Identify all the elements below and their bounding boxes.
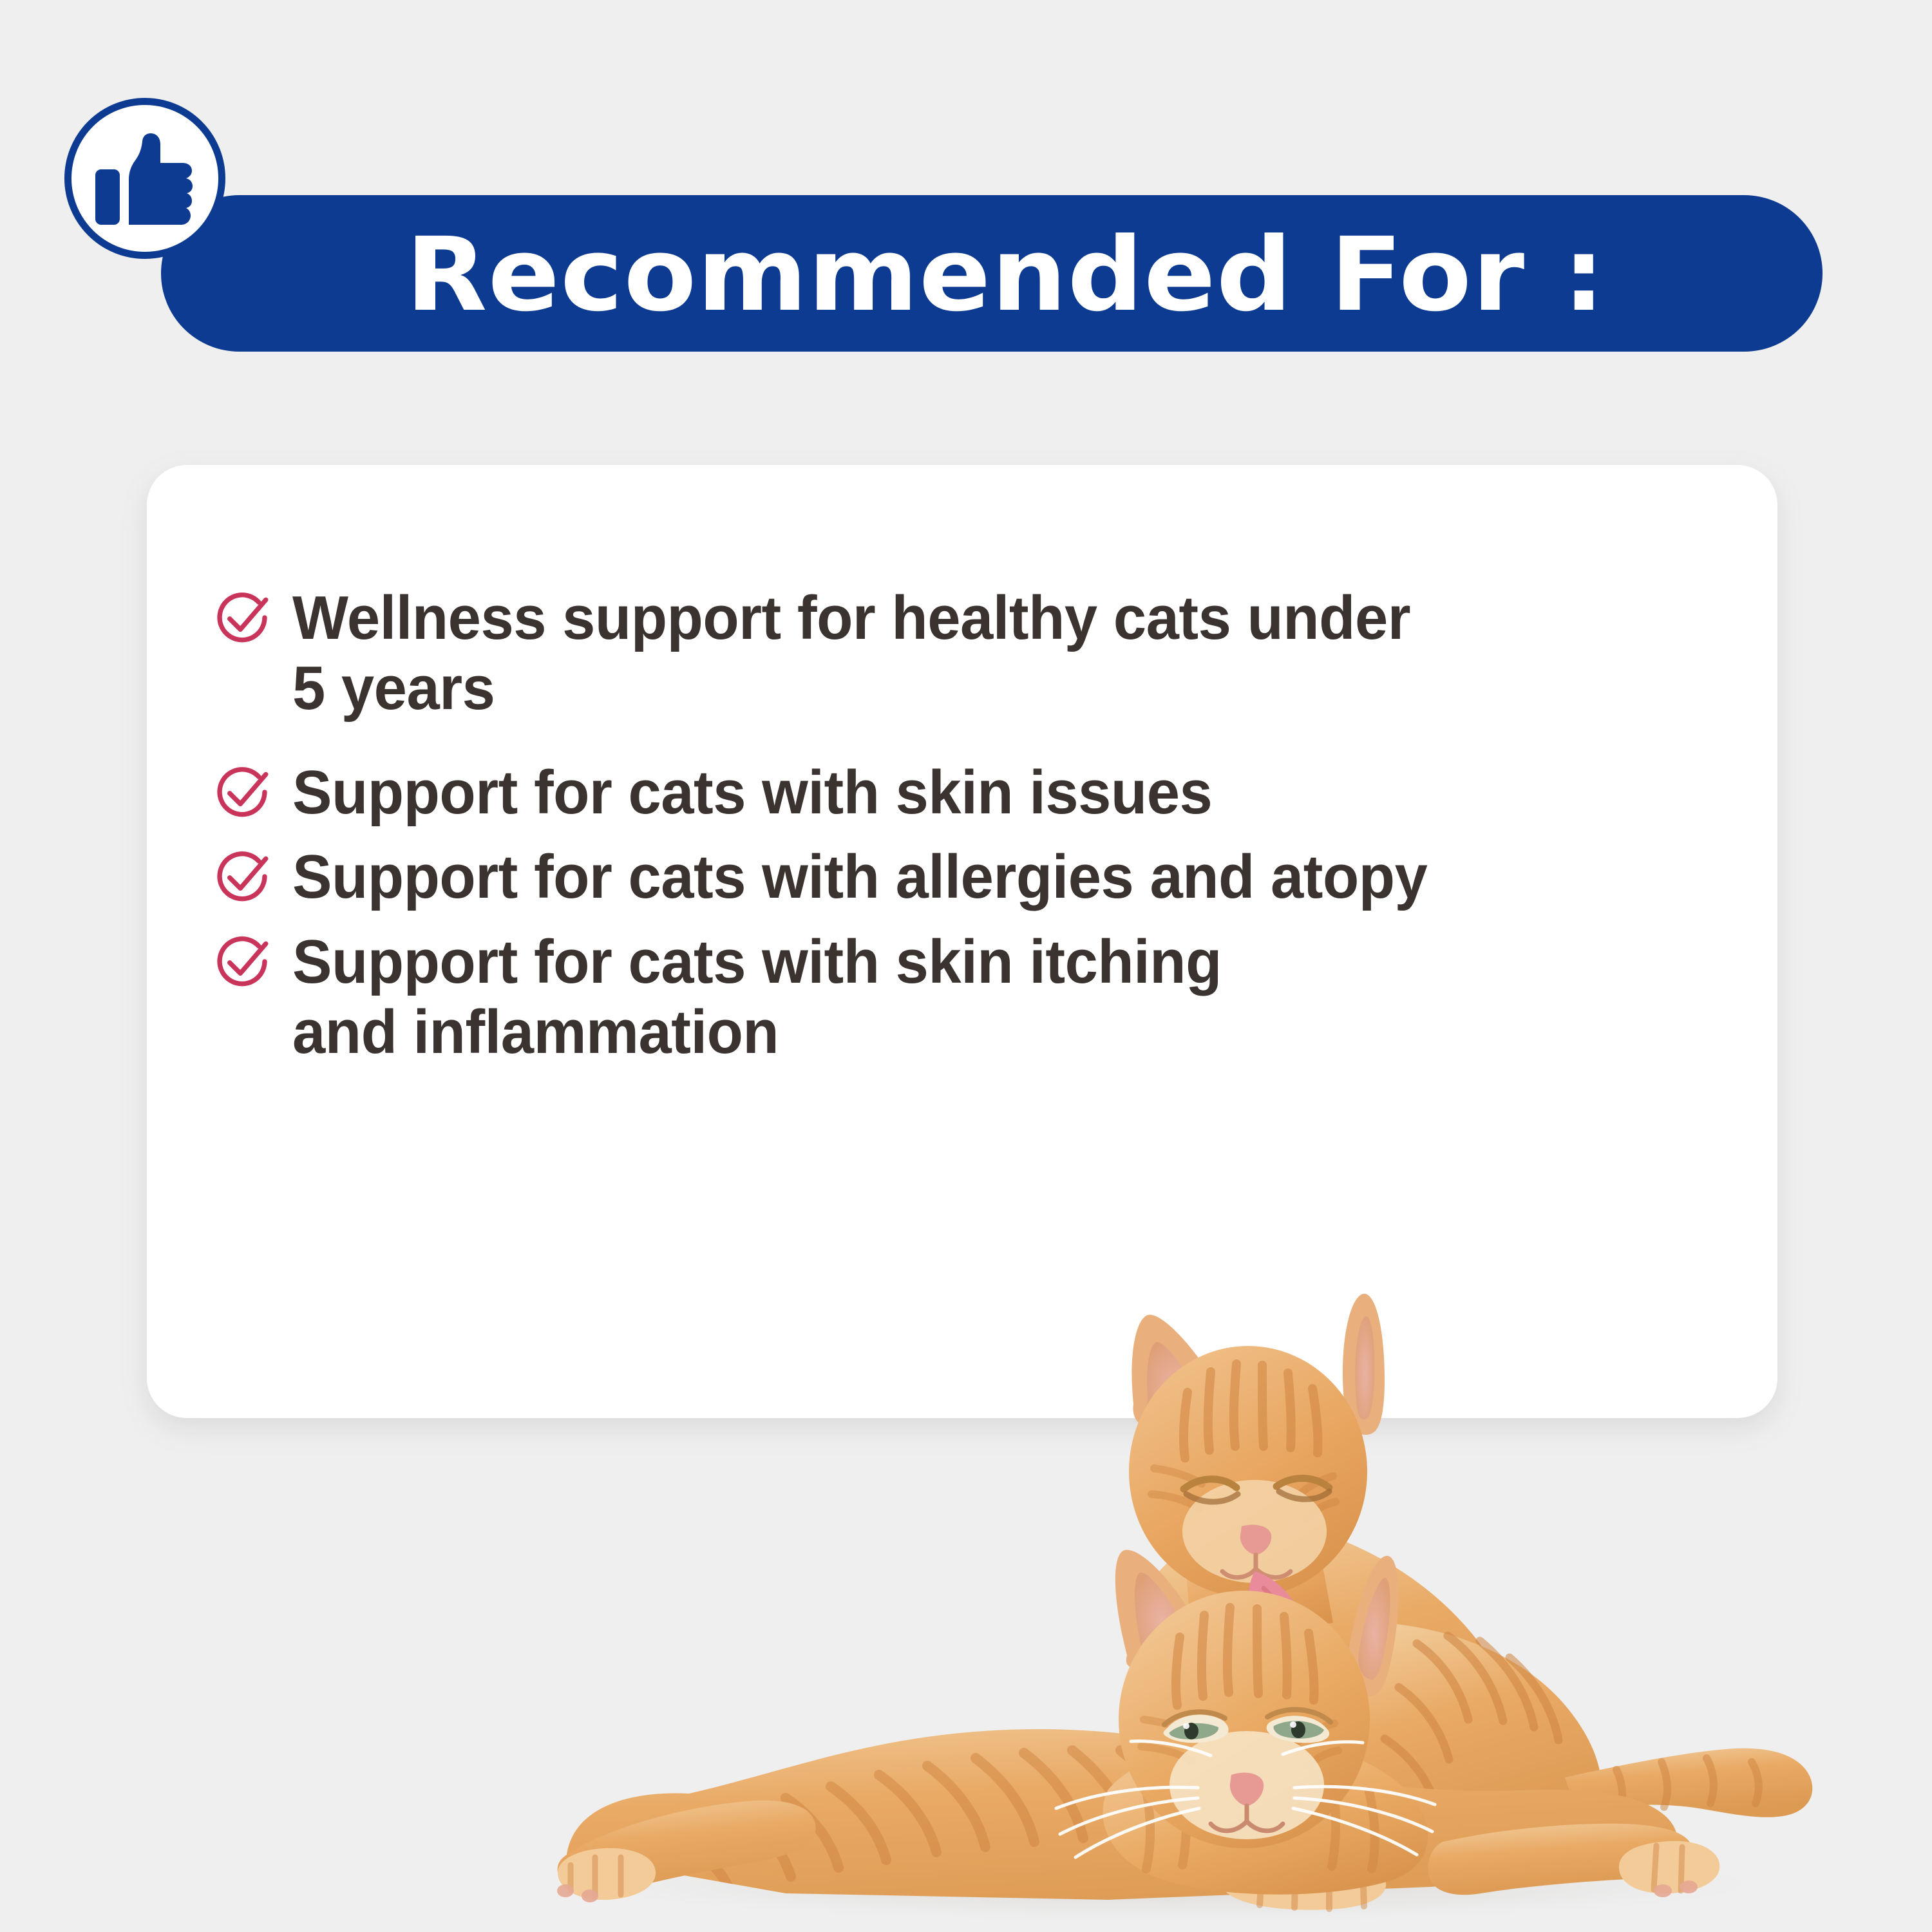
circle-check-icon [213,588,272,647]
page-title: Recommended For : [406,206,1832,345]
circle-check-icon [213,932,272,991]
list-item: Support for cats with skin issues [213,757,1719,828]
list-item-label: Support for cats with skin issues [292,757,1662,828]
thumbs-up-badge [64,98,225,259]
list-item: Support for cats with skin itching and i… [213,927,1719,1068]
list-item: Wellness support for healthy cats under … [213,583,1719,724]
thumbs-up-icon [95,133,193,225]
circle-check-icon [213,847,272,906]
list-item-label: Wellness support for healthy cats under … [292,583,1662,724]
list-item: Support for cats with allergies and atop… [213,842,1719,912]
circle-check-icon [213,762,272,822]
list-item-label: Support for cats with allergies and atop… [292,842,1662,912]
list-item-label: Support for cats with skin itching and i… [292,927,1662,1068]
recommended-for-list: Wellness support for healthy cats under … [213,583,1719,1068]
